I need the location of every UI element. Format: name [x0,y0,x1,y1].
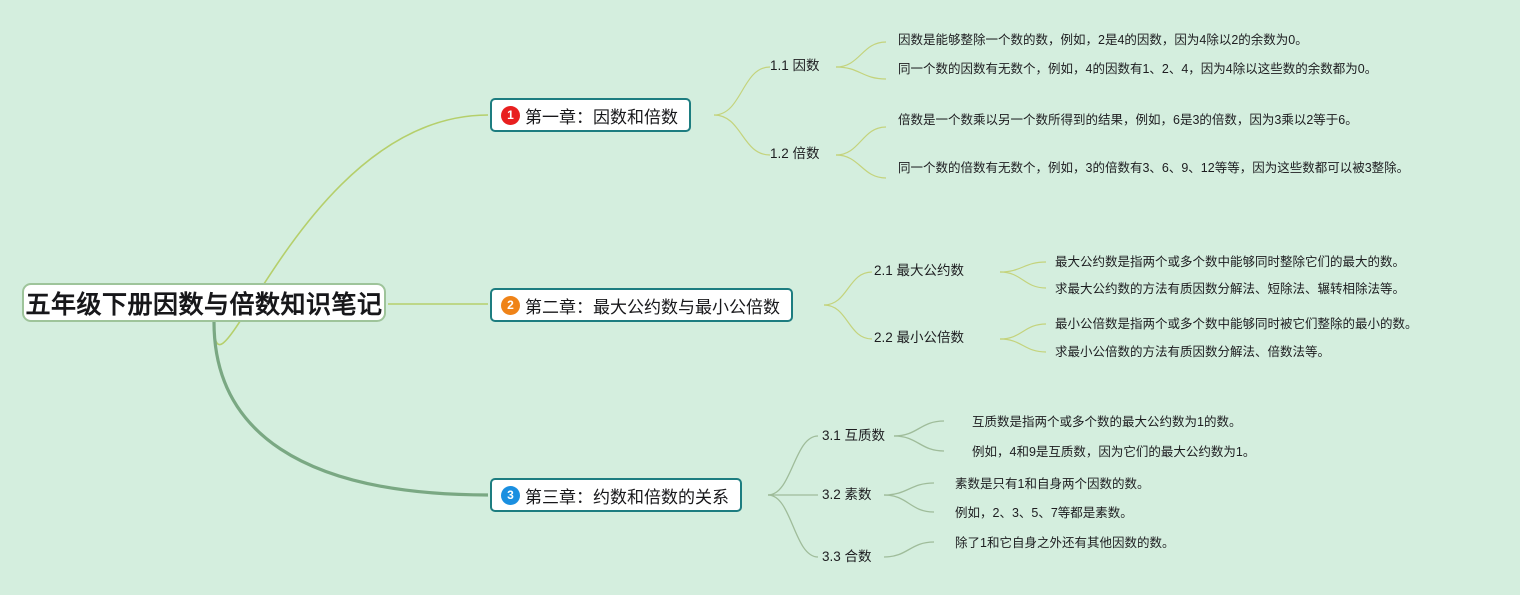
link-sub-1-1-leaf-2 [836,67,886,79]
subtopic-2-1[interactable]: 2.1 最大公约数 [874,259,964,279]
chapter-2-label: 第二章：最大公约数与最小公倍数 [525,293,780,318]
leaf-2-2-1[interactable]: 最小公倍数是指两个或多个数中能够同时被它们整除的最小的数。 [1055,315,1475,333]
chapter-3-badge: 3 [501,486,520,505]
link-chapter-3-sub-3 [768,495,818,557]
link-sub-2-1-leaf-1 [1000,262,1046,272]
leaf-2-2-2[interactable]: 求最小公倍数的方法有质因数分解法、倍数法等。 [1055,343,1475,361]
link-root-chapter-3 [214,322,488,495]
link-sub-1-2-leaf-1 [836,127,886,155]
subtopic-2-2[interactable]: 2.2 最小公倍数 [874,326,964,346]
chapter-node-3[interactable]: 3 第三章：约数和倍数的关系 [490,478,742,512]
leaf-1-1-2[interactable]: 同一个数的因数有无数个，例如，4的因数有1、2、4，因为4除以这些数的余数都为0… [898,60,1412,78]
link-chapter-1-sub-1 [714,67,770,115]
chapter-1-badge: 1 [501,106,520,125]
leaf-1-2-2[interactable]: 同一个数的倍数有无数个，例如，3的倍数有3、6、9、12等等，因为这些数都可以被… [898,159,1412,177]
chapter-node-2[interactable]: 2 第二章：最大公约数与最小公倍数 [490,288,793,322]
link-sub-3-3-leaf-1 [884,542,934,557]
subtopic-1-1[interactable]: 1.1 因数 [770,54,820,74]
chapter-1-label: 第一章：因数和倍数 [525,103,678,128]
leaf-3-1-2[interactable]: 例如，4和9是互质数，因为它们的最大公约数为1。 [972,443,1372,461]
link-chapter-1-sub-2 [714,115,770,155]
subtopic-3-3[interactable]: 3.3 合数 [822,545,872,565]
subtopic-3-1[interactable]: 3.1 互质数 [822,424,885,444]
link-sub-2-2-leaf-2 [1000,339,1046,352]
link-sub-1-2-leaf-2 [836,155,886,178]
link-chapter-2-sub-2 [824,305,872,339]
leaf-1-1-1[interactable]: 因数是能够整除一个数的数，例如，2是4的因数，因为4除以2的余数为0。 [898,31,1412,49]
subtopic-3-2[interactable]: 3.2 素数 [822,483,872,503]
chapter-node-1[interactable]: 1 第一章：因数和倍数 [490,98,691,132]
subtopic-1-2[interactable]: 1.2 倍数 [770,142,820,162]
link-sub-3-2-leaf-1 [884,483,934,495]
leaf-3-2-2[interactable]: 例如，2、3、5、7等都是素数。 [955,504,1355,522]
leaf-3-1-1[interactable]: 互质数是指两个或多个数的最大公约数为1的数。 [972,413,1372,431]
link-sub-3-2-leaf-2 [884,495,934,512]
root-node-label: 五年级下册因数与倍数知识笔记 [25,285,382,321]
link-chapter-3-sub-1 [768,436,818,495]
leaf-2-1-1[interactable]: 最大公约数是指两个或多个数中能够同时整除它们的最大的数。 [1055,253,1475,271]
leaf-3-2-1[interactable]: 素数是只有1和自身两个因数的数。 [955,475,1355,493]
link-sub-3-1-leaf-2 [894,436,944,451]
link-sub-1-1-leaf-1 [836,42,886,67]
root-node[interactable]: 五年级下册因数与倍数知识笔记 [22,283,386,322]
link-sub-3-1-leaf-1 [894,421,944,436]
link-sub-2-2-leaf-1 [1000,324,1046,339]
leaf-3-3-1[interactable]: 除了1和它自身之外还有其他因数的数。 [955,534,1355,552]
chapter-3-label: 第三章：约数和倍数的关系 [525,483,729,508]
chapter-2-badge: 2 [501,296,520,315]
leaf-2-1-2[interactable]: 求最大公约数的方法有质因数分解法、短除法、辗转相除法等。 [1055,280,1475,298]
link-sub-2-1-leaf-2 [1000,272,1046,288]
mindmap-canvas: 五年级下册因数与倍数知识笔记 1 第一章：因数和倍数 1.1 因数 1.2 倍数… [0,0,1520,595]
link-chapter-2-sub-1 [824,272,872,305]
leaf-1-2-1[interactable]: 倍数是一个数乘以另一个数所得到的结果，例如，6是3的倍数，因为3乘以2等于6。 [898,111,1412,129]
